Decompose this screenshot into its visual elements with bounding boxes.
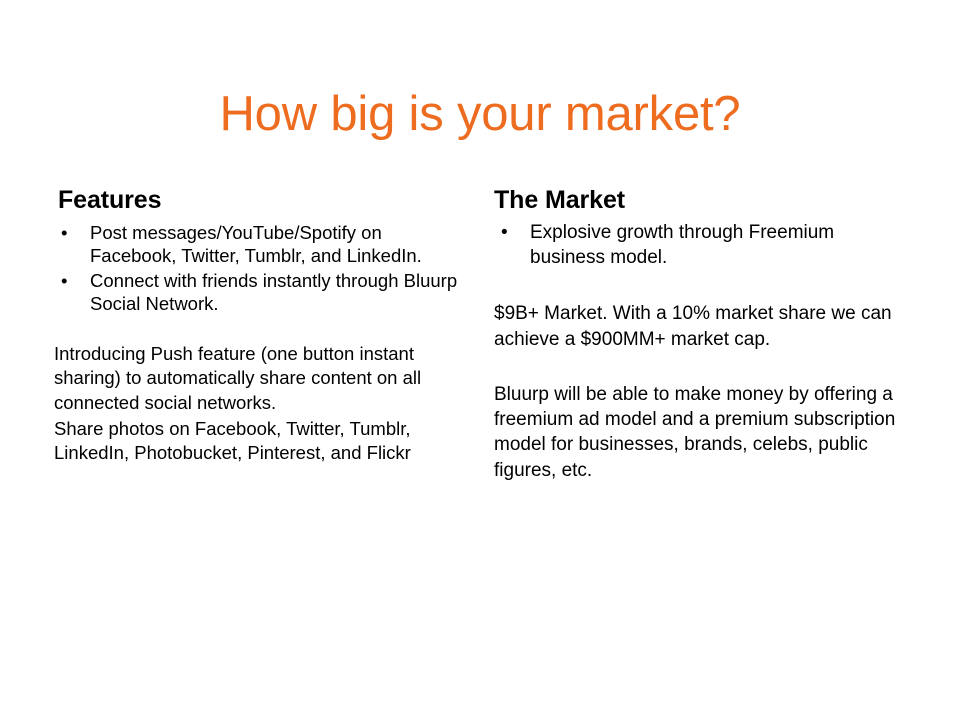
spacer	[494, 271, 914, 301]
list-item: • Connect with friends instantly through…	[54, 269, 466, 316]
bullet-icon: •	[61, 221, 67, 244]
market-paragraph-monetization: Bluurp will be able to make money by off…	[494, 382, 914, 483]
market-bullet-list: • Explosive growth through Freemium busi…	[494, 221, 914, 270]
list-item-text: Explosive growth through Freemium busine…	[530, 222, 834, 268]
page-title: How big is your market?	[0, 89, 960, 141]
market-paragraph-size: $9B+ Market. With a 10% market share we …	[494, 301, 914, 352]
list-item-text: Post messages/YouTube/Spotify on Faceboo…	[90, 222, 422, 266]
bullet-icon: •	[61, 269, 67, 292]
features-column: Features • Post messages/YouTube/Spotify…	[54, 186, 466, 465]
slide-canvas: How big is your market? Features • Post …	[0, 0, 960, 720]
market-heading: The Market	[494, 186, 914, 214]
spacer	[494, 352, 914, 382]
features-paragraph-push: Introducing Push feature (one button ins…	[54, 342, 466, 415]
list-item-text: Connect with friends instantly through B…	[90, 270, 457, 314]
features-heading: Features	[58, 186, 466, 214]
features-bullet-list: • Post messages/YouTube/Spotify on Faceb…	[54, 221, 466, 315]
features-paragraph-share-photos: Share photos on Facebook, Twitter, Tumbl…	[54, 417, 466, 465]
list-item: • Post messages/YouTube/Spotify on Faceb…	[54, 221, 466, 268]
spacer	[54, 316, 466, 342]
list-item: • Explosive growth through Freemium busi…	[494, 221, 914, 270]
market-column: The Market • Explosive growth through Fr…	[494, 186, 914, 483]
bullet-icon: •	[501, 221, 508, 246]
